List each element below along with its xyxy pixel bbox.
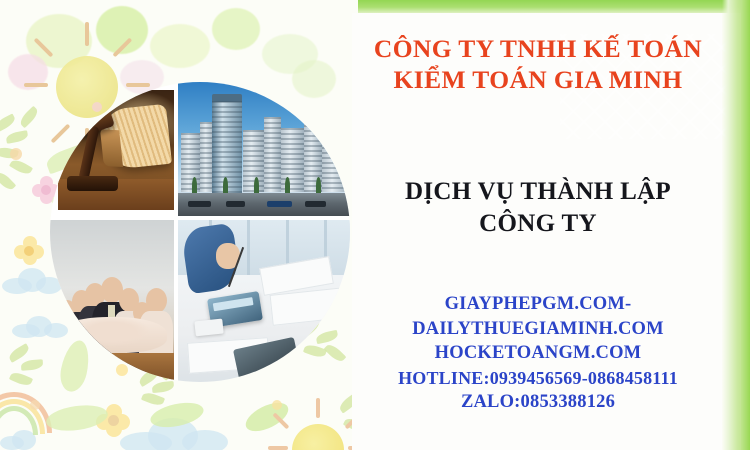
joined-hands: [57, 317, 166, 353]
company-title-line1: CÔNG TY TNHH KẾ TOÁN: [374, 34, 702, 63]
tree-icon: [285, 177, 290, 194]
zalo-number[interactable]: ZALO:0853388126: [348, 390, 728, 415]
website-1[interactable]: GIAYPHEPGM.COM-: [348, 292, 728, 317]
dot-decoration: [10, 148, 22, 160]
hotline-number[interactable]: HOTLINE:0939456569-0868458111: [348, 366, 728, 391]
contact-block: GIAYPHEPGM.COM- DAILYTHUEGIAMINH.COM HOC…: [348, 292, 728, 415]
car-icon: [188, 201, 210, 206]
tower: [181, 133, 200, 192]
tree-icon: [192, 177, 197, 194]
green-top-band: [358, 0, 750, 13]
smartphone-icon: [195, 319, 224, 336]
tower: [264, 117, 281, 192]
skyscraper-photo: [178, 82, 350, 216]
business-team-photo: [50, 220, 174, 382]
bg-blob: [150, 24, 210, 68]
green-right-band-inner: [741, 0, 750, 450]
dot-decoration: [30, 400, 40, 410]
car-icon: [267, 201, 291, 206]
car-icon: [226, 201, 245, 206]
tree-icon: [223, 177, 228, 194]
banner-root: CÔNG TY TNHH KẾ TOÁN KIỂM TOÁN GIA MINH …: [0, 0, 750, 450]
service-subtitle-line2: CÔNG TY: [479, 210, 597, 237]
paper-sheet: [269, 287, 346, 326]
tree-icon: [254, 177, 259, 194]
tower: [322, 132, 346, 192]
website-2[interactable]: DAILYTHUEGIAMINH.COM: [348, 317, 728, 342]
service-subtitle: DỊCH VỤ THÀNH LẬP CÔNG TY: [352, 176, 724, 240]
photo-collage: [50, 82, 350, 382]
flower-icon: [14, 236, 44, 264]
service-subtitle-line1: DỊCH VỤ THÀNH LẬP: [405, 178, 671, 205]
company-title: CÔNG TY TNHH KẾ TOÁN KIỂM TOÁN GIA MINH: [352, 33, 724, 95]
gavel-book-photo: [58, 90, 174, 210]
website-3[interactable]: HOCKETOANGM.COM: [348, 341, 728, 366]
dot-decoration: [272, 400, 282, 410]
accounting-desk-photo: [178, 220, 350, 382]
car-icon: [305, 201, 326, 206]
gavel-base: [67, 176, 118, 190]
tree-icon: [316, 177, 321, 194]
company-title-line2: KIỂM TOÁN GIA MINH: [352, 64, 724, 95]
paper-sheet: [111, 365, 128, 377]
bg-blob: [212, 8, 260, 50]
open-book-icon: [101, 104, 172, 170]
